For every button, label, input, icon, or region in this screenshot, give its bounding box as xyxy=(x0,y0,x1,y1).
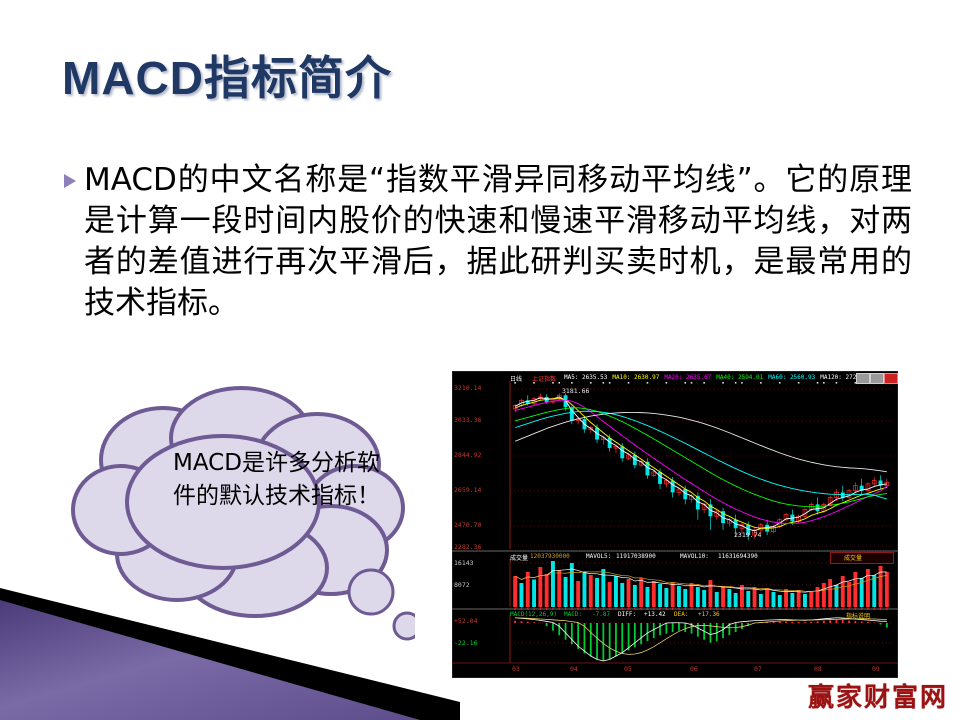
macd-label: MACD: xyxy=(564,611,582,618)
volume-tick: 8072 xyxy=(454,581,470,589)
x-tick: 03 xyxy=(512,665,520,673)
slide-canvas: MACD指标简介 MACD的中文名称是“指数平滑异同移动平均线”。它的原理是计算… xyxy=(0,0,960,720)
body-paragraph: MACD的中文名称是“指数平滑异同移动平均线”。它的原理是计算一段时间内股价的快… xyxy=(84,160,912,324)
mavol10-value: 11631694390 xyxy=(718,553,758,560)
mavol5-value: 11917038900 xyxy=(616,553,656,560)
corner-decoration xyxy=(0,570,460,720)
x-tick: 05 xyxy=(624,665,632,673)
body-content: MACD的中文名称是“指数平滑异同移动平均线”。它的原理是计算一段时间内股价的快… xyxy=(62,160,912,324)
triangle-bullet-icon xyxy=(62,172,84,190)
mavol5-label: MAVOL5: xyxy=(586,553,611,560)
price-tick: 3210.14 xyxy=(454,384,481,392)
ma-legend: MA5: 2635.53MA10: 2630.97MA20: 2635.67MA… xyxy=(564,374,876,381)
x-tick: 07 xyxy=(754,665,762,673)
index-label[interactable]: 上证指数 xyxy=(532,374,556,383)
ma-legend-item: MA20: 2635.67 xyxy=(664,374,711,381)
x-tick: 09 xyxy=(872,665,880,673)
price-tick: 2282.36 xyxy=(454,543,481,551)
dea-value: +17.36 xyxy=(698,611,720,618)
mavol10-label: MAVOL10: xyxy=(680,553,709,560)
volume-value: 12037930000 xyxy=(530,553,570,560)
volume-dropdown-label[interactable]: 成交量 xyxy=(844,553,862,562)
low-annotation: 2319.74 xyxy=(734,531,761,539)
ma-legend-item: MA40: 2594.01 xyxy=(716,374,763,381)
macd-tick: -22.16 xyxy=(454,639,477,647)
close-button[interactable] xyxy=(884,373,898,384)
price-tick: 3033.36 xyxy=(454,416,481,424)
ma-legend-item: MA5: 2635.53 xyxy=(564,374,607,381)
diff-value: +13.42 xyxy=(644,611,666,618)
ma-legend-item: MA60: 2560.93 xyxy=(768,374,815,381)
price-tick: 2659.14 xyxy=(454,486,481,494)
volume-label: 成交量 xyxy=(510,553,528,562)
dea-label: DEA: xyxy=(674,611,688,618)
stock-chart-window[interactable]: 日线 上证指数 MA5: 2635.53MA10: 2630.97MA20: 2… xyxy=(452,371,898,678)
macd-title: MACD(12,26,9) xyxy=(510,611,557,618)
volume-tick: 16143 xyxy=(454,559,474,567)
diff-label: DIFF: xyxy=(618,611,636,618)
watermark: 赢家财富网 xyxy=(808,677,948,714)
x-tick: 06 xyxy=(690,665,698,673)
macd-tick: +52.04 xyxy=(454,617,477,625)
price-tick: 2844.92 xyxy=(454,451,481,459)
maximize-button[interactable] xyxy=(870,373,884,384)
period-label[interactable]: 日线 xyxy=(510,374,522,383)
thought-bubble-text: MACD是许多分析软件的默认技术指标！ xyxy=(173,447,388,513)
x-tick: 08 xyxy=(814,665,822,673)
macd-value: -7.87 xyxy=(592,611,610,618)
high-annotation: 3181.66 xyxy=(562,387,589,395)
ma-legend-item: MA10: 2630.97 xyxy=(612,374,659,381)
page-title: MACD指标简介 xyxy=(62,42,392,108)
price-tick: 2470.70 xyxy=(454,521,481,529)
indicator-help-label[interactable]: 指标说明 xyxy=(846,611,870,620)
x-tick: 04 xyxy=(570,665,578,673)
minimize-button[interactable] xyxy=(856,373,870,384)
